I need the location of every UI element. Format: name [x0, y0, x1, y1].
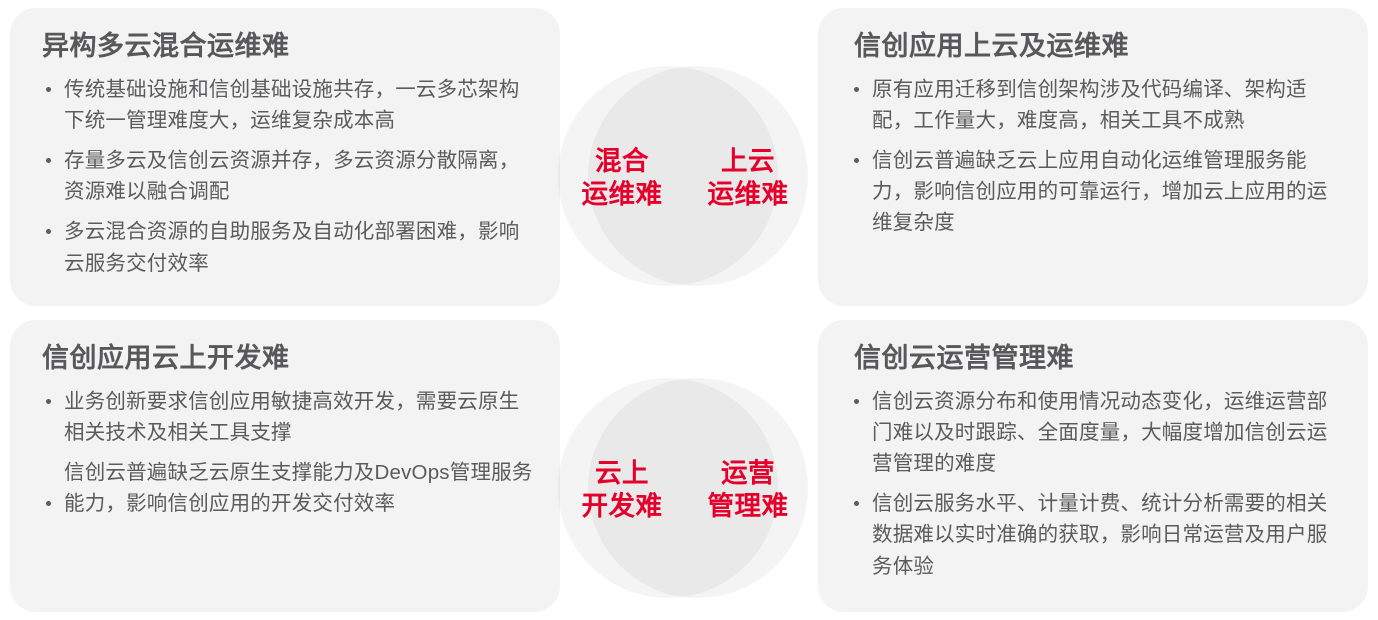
bullet-dot-icon: [854, 87, 859, 92]
list-item: 原有应用迁移到信创架构涉及代码编译、架构适配，工作量大，难度高，相关工具不成熟: [850, 74, 1342, 136]
bullet-list: 传统基础设施和信创基础设施共存，一云多芯架构下统一管理难度大，运维复杂成本高 存…: [42, 74, 534, 279]
list-item-text: 信创云服务水平、计量计费、统计分析需要的相关数据难以实时准确的获取，影响日常运营…: [872, 492, 1327, 577]
bullet-dot-icon: [854, 158, 859, 163]
list-item: 业务创新要求信创应用敏捷高效开发，需要云原生相关技术及相关工具支撑: [42, 386, 534, 448]
bullet-list: 信创云资源分布和使用情况动态变化，运维运营部门难以及时跟踪、全面度量，大幅度增加…: [850, 386, 1342, 582]
list-item-text: 多云混合资源的自助服务及自动化部署困难，影响云服务交付效率: [64, 220, 519, 274]
bullet-dot-icon: [46, 158, 51, 163]
list-item-text: 原有应用迁移到信创架构涉及代码编译、架构适配，工作量大，难度高，相关工具不成熟: [872, 78, 1307, 132]
bullet-dot-icon: [46, 229, 51, 234]
venn-label-line1: 上云: [721, 146, 775, 176]
list-item: 信创云服务水平、计量计费、统计分析需要的相关数据难以实时准确的获取，影响日常运营…: [850, 488, 1342, 581]
bullet-list: 原有应用迁移到信创架构涉及代码编译、架构适配，工作量大，难度高，相关工具不成熟 …: [850, 74, 1342, 239]
card-heterogeneous-multicloud-ops: 异构多云混合运维难 传统基础设施和信创基础设施共存，一云多芯架构下统一管理难度大…: [10, 8, 560, 306]
list-item-text: 业务创新要求信创应用敏捷高效开发，需要云原生相关技术及相关工具支撑: [64, 390, 519, 444]
list-item: 信创云普遍缺乏云原生支撑能力及DevOps管理服务能力，影响信创应用的开发交付效…: [42, 457, 534, 519]
diagram-canvas: 异构多云混合运维难 传统基础设施和信创基础设施共存，一云多芯架构下统一管理难度大…: [0, 0, 1378, 620]
venn-label-line2: 运维难: [688, 179, 808, 213]
venn-label-right: 运营 管理难: [688, 457, 808, 525]
list-item-text: 信创云资源分布和使用情况动态变化，运维运营部门难以及时跟踪、全面度量，大幅度增加…: [872, 390, 1327, 475]
list-item-text: 存量多云及信创云资源并存，多云资源分散隔离，资源难以融合调配: [64, 149, 519, 203]
list-item: 多云混合资源的自助服务及自动化部署困难，影响云服务交付效率: [42, 216, 534, 278]
card-xinchuang-app-cloud-dev: 信创应用云上开发难 业务创新要求信创应用敏捷高效开发，需要云原生相关技术及相关工…: [10, 320, 560, 612]
venn-label-line1: 混合: [595, 146, 649, 176]
card-title: 信创云运营管理难: [854, 342, 1342, 376]
card-xinchuang-cloud-operation-mgmt: 信创云运营管理难 信创云资源分布和使用情况动态变化，运维运营部门难以及时跟踪、全…: [818, 320, 1368, 612]
venn-label-line2: 开发难: [562, 491, 682, 525]
bullet-dot-icon: [46, 87, 51, 92]
list-item: 信创云普遍缺乏云上应用自动化运维管理服务能力，影响信创应用的可靠运行，增加云上应…: [850, 145, 1342, 238]
card-xinchuang-app-to-cloud-ops: 信创应用上云及运维难 原有应用迁移到信创架构涉及代码编译、架构适配，工作量大，难…: [818, 8, 1368, 306]
list-item: 传统基础设施和信创基础设施共存，一云多芯架构下统一管理难度大，运维复杂成本高: [42, 74, 534, 136]
venn-label-line2: 运维难: [562, 179, 682, 213]
venn-cluster-bottom: 云上 开发难 运营 管理难: [558, 378, 808, 603]
bullet-dot-icon: [854, 501, 859, 506]
venn-label-line2: 管理难: [688, 491, 808, 525]
venn-label-line1: 运营: [721, 458, 775, 488]
bullet-dot-icon: [854, 399, 859, 404]
list-item: 信创云资源分布和使用情况动态变化，运维运营部门难以及时跟踪、全面度量，大幅度增加…: [850, 386, 1342, 479]
venn-label-line1: 云上: [595, 458, 649, 488]
card-title: 信创应用上云及运维难: [854, 30, 1342, 64]
bullet-dot-icon: [46, 399, 51, 404]
card-title: 异构多云混合运维难: [42, 30, 534, 64]
list-item-text: 传统基础设施和信创基础设施共存，一云多芯架构下统一管理难度大，运维复杂成本高: [64, 78, 519, 132]
venn-label-right: 上云 运维难: [688, 145, 808, 213]
list-item: 存量多云及信创云资源并存，多云资源分散隔离，资源难以融合调配: [42, 145, 534, 207]
venn-cluster-top: 混合 运维难 上云 运维难: [558, 66, 808, 291]
bullet-dot-icon: [46, 501, 51, 506]
venn-label-left: 混合 运维难: [562, 145, 682, 213]
card-title: 信创应用云上开发难: [42, 342, 534, 376]
venn-label-left: 云上 开发难: [562, 457, 682, 525]
bullet-list: 业务创新要求信创应用敏捷高效开发，需要云原生相关技术及相关工具支撑 信创云普遍缺…: [42, 386, 534, 520]
list-item-text: 信创云普遍缺乏云上应用自动化运维管理服务能力，影响信创应用的可靠运行，增加云上应…: [872, 149, 1327, 234]
list-item-text: 信创云普遍缺乏云原生支撑能力及DevOps管理服务能力，影响信创应用的开发交付效…: [64, 461, 533, 515]
